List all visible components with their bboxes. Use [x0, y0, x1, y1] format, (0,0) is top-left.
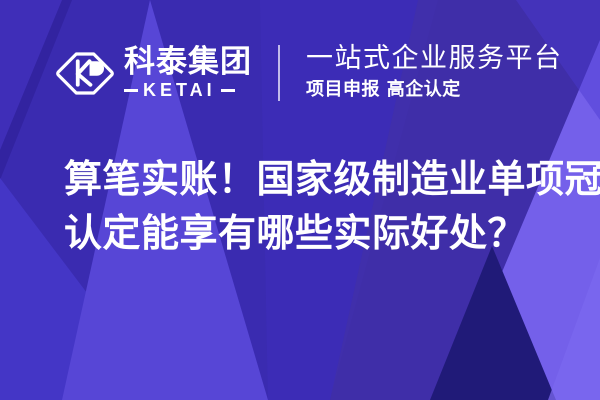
dash-rule-icon [124, 89, 138, 92]
headline-line-1: 算笔实账！国家级制造业单项冠军 [64, 152, 564, 206]
logo-p-bowl [90, 61, 105, 76]
tagline-block: 一站式企业服务平台 项目申报 高企认定 [306, 44, 563, 102]
ketai-diamond-kp-logo-icon [56, 44, 114, 102]
brand-name-en: KETAI [143, 81, 216, 99]
brand-logo[interactable]: 科泰集团 KETAI [56, 36, 252, 110]
brand-name-cn: 科泰集团 [124, 47, 252, 79]
vertical-divider-icon [278, 45, 280, 101]
brand-wordmark: 科泰集团 KETAI [124, 47, 252, 100]
tagline-secondary: 项目申报 高企认定 [306, 79, 563, 102]
headline-line-2: 认定能享有哪些实际好处？ [64, 206, 564, 260]
headline-block: 算笔实账！国家级制造业单项冠军 认定能享有哪些实际好处？ [64, 152, 564, 260]
brand-name-en-row: KETAI [124, 81, 252, 99]
header-lockup: 科泰集团 KETAI 一站式企业服务平台 项目申报 高企认定 [56, 36, 563, 110]
promo-banner: 科泰集团 KETAI 一站式企业服务平台 项目申报 高企认定 算笔实账！国家级制… [0, 0, 600, 400]
dash-rule-icon [221, 89, 235, 92]
tagline-primary: 一站式企业服务平台 [306, 44, 563, 74]
